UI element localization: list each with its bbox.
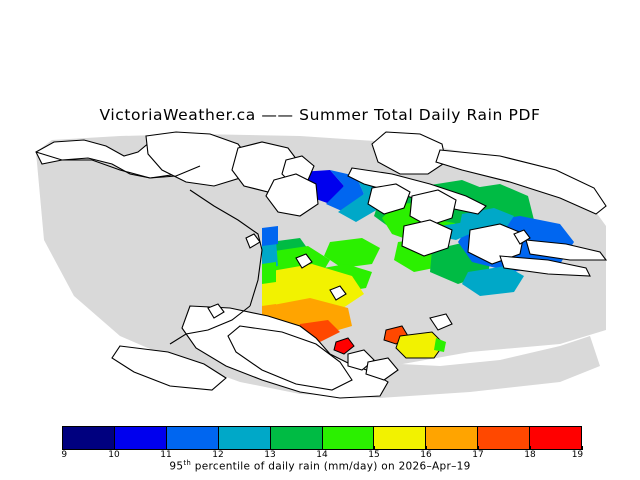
caption-superscript: th <box>183 459 191 467</box>
colorbar-segment-5 <box>322 427 374 449</box>
colorbar-segment-6 <box>373 427 425 449</box>
colorbar-segment-8 <box>477 427 529 449</box>
colorbar-segment-9 <box>529 427 581 449</box>
map-svg <box>0 130 640 410</box>
colorbar-segment-7 <box>425 427 477 449</box>
page-title: VictoriaWeather.ca —— Summer Total Daily… <box>0 106 640 124</box>
colorbar-segment-2 <box>166 427 218 449</box>
weather-map-page: VictoriaWeather.ca —— Summer Total Daily… <box>0 0 640 480</box>
colorbar-segment-3 <box>218 427 270 449</box>
caption-prefix: 95 <box>169 461 183 473</box>
rain-percentile-map <box>0 130 640 410</box>
colorbar-caption: 95th percentile of daily rain (mm/day) o… <box>0 459 640 473</box>
colorbar-segment-4 <box>270 427 322 449</box>
region-west-edge-blue <box>262 226 278 246</box>
caption-rest: percentile of daily rain (mm/day) on 202… <box>191 461 471 473</box>
colorbar-segment-1 <box>114 427 166 449</box>
colorbar-segment-0 <box>63 427 114 449</box>
